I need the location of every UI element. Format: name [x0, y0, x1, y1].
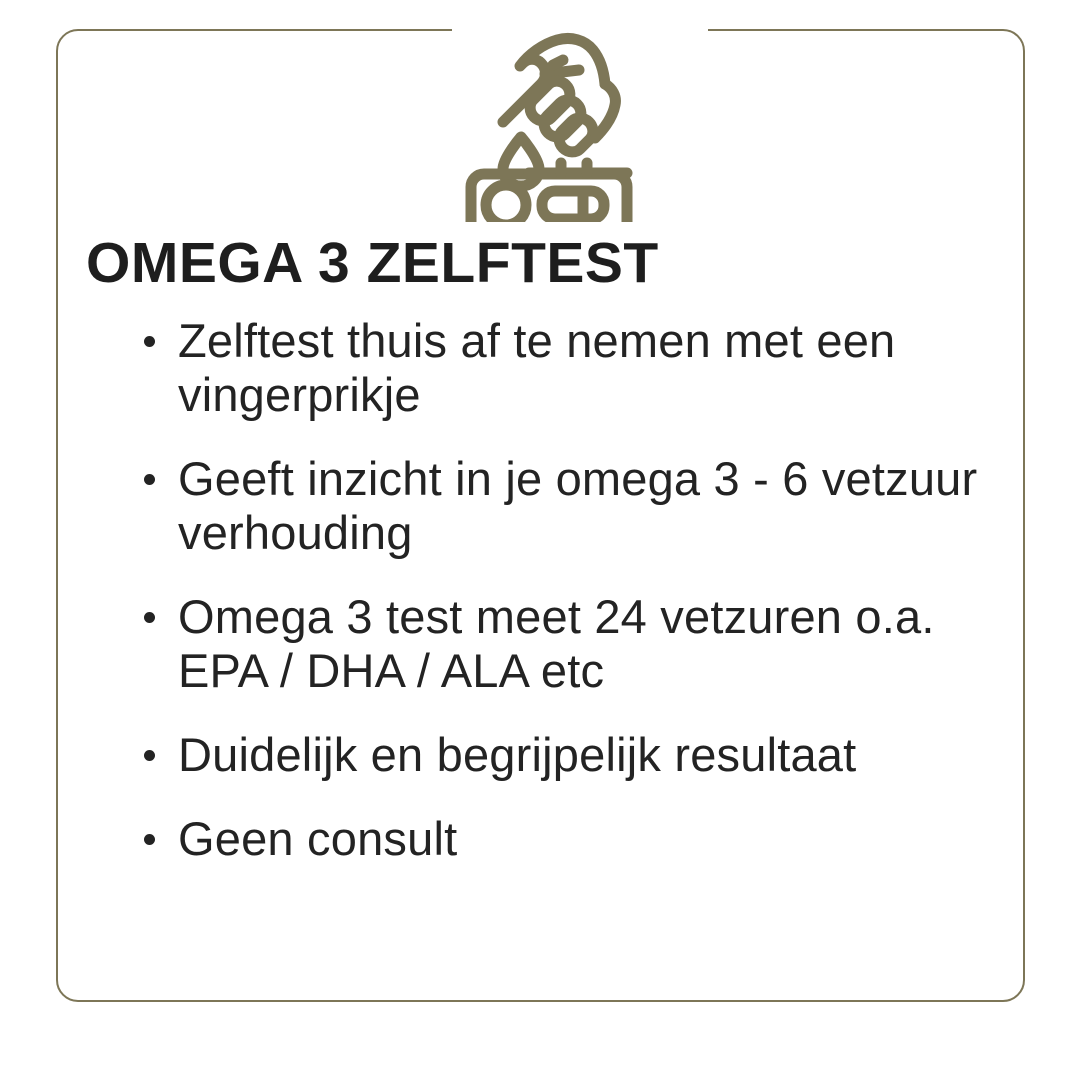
bullet-dot-icon	[144, 834, 155, 845]
page-title: OMEGA 3 ZELFTEST	[86, 232, 998, 294]
list-item: Zelftest thuis af te nemen met een vinge…	[86, 314, 998, 422]
feature-list: Zelftest thuis af te nemen met een vinge…	[86, 314, 998, 866]
list-item-label: Geen consult	[178, 812, 457, 865]
list-item: Geeft inzicht in je omega 3 - 6 vetzuur …	[86, 452, 998, 560]
bullet-dot-icon	[144, 336, 155, 347]
list-item-label: Duidelijk en begrijpelijk resultaat	[178, 728, 856, 781]
list-item: Duidelijk en begrijpelijk resultaat	[86, 728, 998, 782]
list-item: Geen consult	[86, 812, 998, 866]
list-item: Omega 3 test meet 24 vetzuren o.a. EPA /…	[86, 590, 998, 698]
bullet-dot-icon	[144, 750, 155, 761]
finger-prick-blood-test-icon	[459, 26, 639, 222]
list-item-label: Omega 3 test meet 24 vetzuren o.a. EPA /…	[178, 590, 935, 697]
page-root: OMEGA 3 ZELFTEST Zelftest thuis af te ne…	[0, 0, 1080, 1080]
bullet-dot-icon	[144, 612, 155, 623]
list-item-label: Zelftest thuis af te nemen met een vinge…	[178, 314, 895, 421]
card-content: OMEGA 3 ZELFTEST Zelftest thuis af te ne…	[86, 232, 998, 866]
list-item-label: Geeft inzicht in je omega 3 - 6 vetzuur …	[178, 452, 977, 559]
bullet-dot-icon	[144, 474, 155, 485]
